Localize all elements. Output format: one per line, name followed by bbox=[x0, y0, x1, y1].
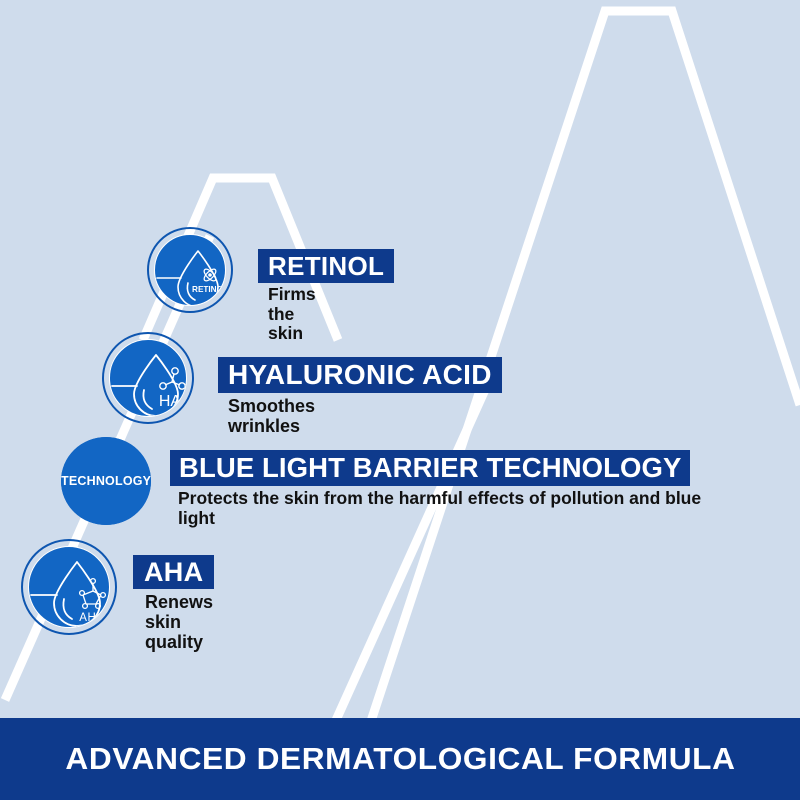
ingredient-icon-hyaluronic-acid[interactable]: HA bbox=[102, 332, 194, 424]
ingredient-icon-aha[interactable]: AHA bbox=[21, 539, 117, 635]
ingredient-title-text: AHA bbox=[144, 557, 203, 588]
footer-banner-text: ADVANCED DERMATOLOGICAL FORMULA bbox=[65, 741, 735, 777]
icon-caption-retinol: RETINOL bbox=[192, 285, 226, 294]
infographic-canvas: RETINOL RETINOL Firms the skin bbox=[0, 0, 800, 800]
ingredient-icon-retinol[interactable]: RETINOL bbox=[147, 227, 233, 313]
ingredient-subtitle-blue-light-barrier-technology: Protects the skin from the harmful effec… bbox=[178, 489, 718, 528]
droplet-molecule-icon: AHA bbox=[29, 547, 110, 628]
droplet-molecule-icon: HA bbox=[110, 340, 187, 417]
ingredient-subtitle-text: Protects the skin from the harmful effec… bbox=[178, 488, 701, 528]
ingredient-title-blue-light-barrier-technology: BLUE LIGHT BARRIER TECHNOLOGY bbox=[170, 450, 690, 486]
ingredient-subtitle-aha: Renews skin quality bbox=[145, 592, 213, 652]
ingredient-title-aha: AHA bbox=[133, 555, 214, 589]
ingredient-subtitle-text: Smoothes wrinkles bbox=[228, 396, 315, 436]
ingredient-subtitle-hyaluronic-acid: Smoothes wrinkles bbox=[228, 396, 315, 436]
ingredient-icon-technology[interactable]: TECHNOLOGY bbox=[61, 437, 151, 525]
icon-caption-aha: AHA bbox=[79, 612, 104, 624]
ingredient-subtitle-retinol: Firms the skin bbox=[268, 285, 316, 344]
ingredient-subtitle-text: Renews skin quality bbox=[145, 592, 213, 652]
ingredient-title-retinol: RETINOL bbox=[258, 249, 394, 283]
ingredient-title-text: BLUE LIGHT BARRIER TECHNOLOGY bbox=[179, 452, 681, 484]
footer-banner: ADVANCED DERMATOLOGICAL FORMULA bbox=[0, 718, 800, 800]
ingredient-title-hyaluronic-acid: HYALURONIC ACID bbox=[218, 357, 502, 393]
ingredient-subtitle-text: Firms the skin bbox=[268, 284, 316, 343]
icon-caption-ha: HA bbox=[159, 393, 182, 410]
icon-caption-technology: TECHNOLOGY bbox=[61, 474, 151, 488]
ingredient-title-text: HYALURONIC ACID bbox=[228, 359, 492, 391]
ingredient-title-text: RETINOL bbox=[268, 251, 384, 282]
bg-peak-right bbox=[345, 11, 800, 800]
droplet-molecule-icon: RETINOL bbox=[155, 235, 226, 306]
